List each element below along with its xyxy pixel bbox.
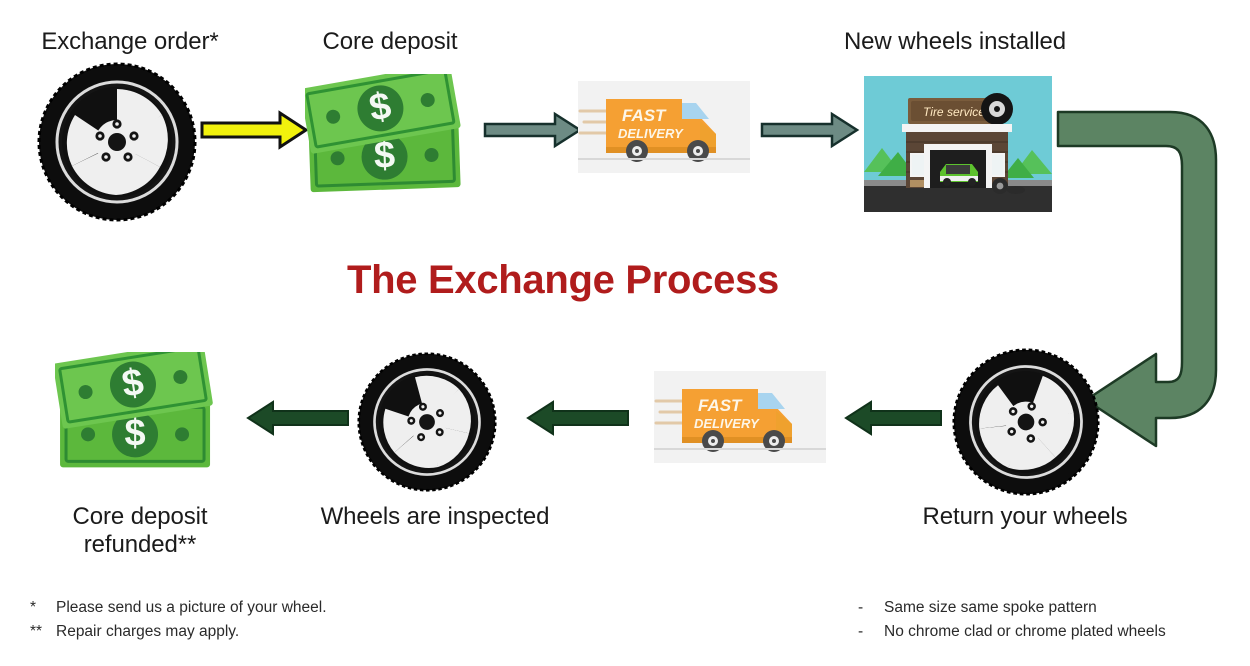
note-bullet: - xyxy=(858,596,884,620)
label-core-deposit-refunded-line2: refunded** xyxy=(84,531,196,558)
arrow-deposit-to-truck xyxy=(483,110,583,150)
footnotes-right: - Same size same spoke pattern - No chro… xyxy=(858,596,1248,644)
shop-sign-text: Tire service xyxy=(923,105,985,119)
delivery-truck-icon: FAST DELIVERY xyxy=(654,371,826,463)
page-title: The Exchange Process xyxy=(347,258,779,303)
footnote-text: Repair charges may apply. xyxy=(56,620,239,644)
note-text: Same size same spoke pattern xyxy=(884,596,1097,620)
arrow-order-to-deposit xyxy=(200,110,310,150)
money-icon: $ $ xyxy=(305,74,483,210)
footnote-row: ** Repair charges may apply. xyxy=(30,620,450,644)
truck-text-fast: FAST xyxy=(622,106,667,125)
note-row: - Same size same spoke pattern xyxy=(858,596,1248,620)
label-new-wheels-installed: New wheels installed xyxy=(800,28,1110,56)
wheel-icon xyxy=(952,348,1100,496)
footnote-mark: ** xyxy=(30,620,56,644)
arrow-return-to-truck xyxy=(843,400,943,436)
truck-text-delivery: DELIVERY xyxy=(618,126,684,141)
arrow-truck-to-shop xyxy=(760,110,860,150)
footnote-mark: * xyxy=(30,596,56,620)
note-bullet: - xyxy=(858,620,884,644)
note-row: - No chrome clad or chrome plated wheels xyxy=(858,620,1248,644)
wheel-icon xyxy=(37,62,197,222)
note-text: No chrome clad or chrome plated wheels xyxy=(884,620,1166,644)
label-exchange-order: Exchange order* xyxy=(20,28,240,56)
label-core-deposit-refunded-line1: Core deposit xyxy=(73,503,208,530)
money-icon: $ $ xyxy=(55,352,235,488)
exchange-process-diagram: Exchange order* xyxy=(0,0,1250,666)
arrow-truck-to-inspect xyxy=(525,400,630,436)
footnote-text: Please send us a picture of your wheel. xyxy=(56,596,327,620)
delivery-truck-icon: FAST DELIVERY xyxy=(578,81,750,173)
footnotes-left: * Please send us a picture of your wheel… xyxy=(30,596,450,644)
label-wheels-are-inspected: Wheels are inspected xyxy=(295,503,575,531)
arrow-inspect-to-refund xyxy=(245,400,350,436)
footnote-row: * Please send us a picture of your wheel… xyxy=(30,596,450,620)
tire-service-shop-icon: Tire service xyxy=(864,76,1052,212)
label-core-deposit-refunded: Core deposit refunded** xyxy=(20,503,260,560)
label-core-deposit: Core deposit xyxy=(290,28,490,56)
truck-text-delivery: DELIVERY xyxy=(694,416,760,431)
wheel-icon xyxy=(357,352,497,492)
truck-text-fast: FAST xyxy=(698,396,743,415)
label-return-your-wheels: Return your wheels xyxy=(880,503,1170,531)
